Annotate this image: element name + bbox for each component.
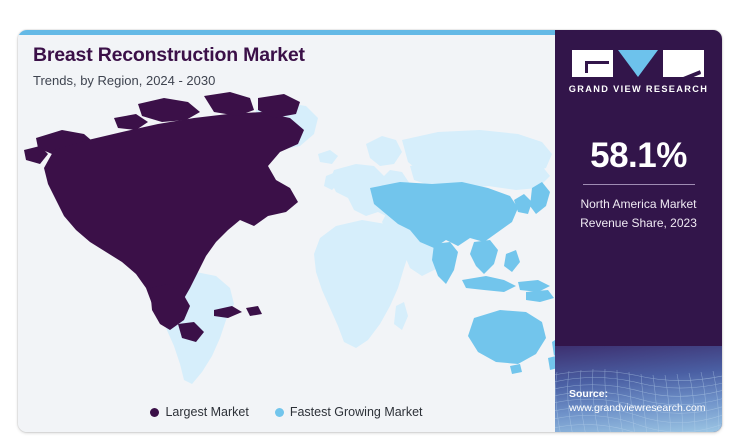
infographic-canvas: Breast Reconstruction Market Trends, by … xyxy=(0,0,737,447)
logo-wordmark: GRAND VIEW RESEARCH xyxy=(569,84,708,94)
stat-caption-line-1: North America Market xyxy=(580,195,697,214)
legend-dot-icon xyxy=(275,408,284,417)
brand-panel: GRAND VIEW RESEARCH 58.1% North America … xyxy=(555,30,722,432)
legend-item-largest-market: Largest Market xyxy=(150,405,248,419)
legend: Largest Market Fastest Growing Market xyxy=(18,398,555,426)
map-region-north-america xyxy=(24,92,304,342)
page-title: Breast Reconstruction Market xyxy=(33,44,533,66)
logo-r-mark-icon xyxy=(663,50,704,77)
stat-caption-line-2: Revenue Share, 2023 xyxy=(580,214,697,233)
legend-label: Fastest Growing Market xyxy=(290,405,423,419)
legend-label: Largest Market xyxy=(165,405,248,419)
mesh-footer: Source: www.grandviewresearch.com xyxy=(555,346,722,432)
infographic-card: Breast Reconstruction Market Trends, by … xyxy=(18,30,722,432)
world-map xyxy=(18,92,555,392)
logo-marks xyxy=(572,50,704,77)
source-block: Source: www.grandviewresearch.com xyxy=(569,387,706,415)
stat-block: 58.1% North America Market Revenue Share… xyxy=(555,138,722,232)
logo-g-mark-icon xyxy=(572,50,613,77)
accent-bar xyxy=(18,30,555,35)
page-subtitle: Trends, by Region, 2024 - 2030 xyxy=(33,73,533,89)
logo-v-triangle-icon xyxy=(618,50,658,77)
source-label: Source: xyxy=(569,387,706,401)
legend-dot-icon xyxy=(150,408,159,417)
title-block: Breast Reconstruction Market Trends, by … xyxy=(33,44,533,89)
map-panel: Breast Reconstruction Market Trends, by … xyxy=(18,30,555,432)
grand-view-research-logo: GRAND VIEW RESEARCH xyxy=(569,50,708,94)
world-map-svg xyxy=(18,92,555,392)
source-url[interactable]: www.grandviewresearch.com xyxy=(569,401,706,415)
stat-caption: North America Market Revenue Share, 2023 xyxy=(580,195,697,232)
stat-value: 58.1% xyxy=(590,138,687,173)
legend-item-fastest-growing-market: Fastest Growing Market xyxy=(275,405,423,419)
stat-divider xyxy=(583,184,695,185)
